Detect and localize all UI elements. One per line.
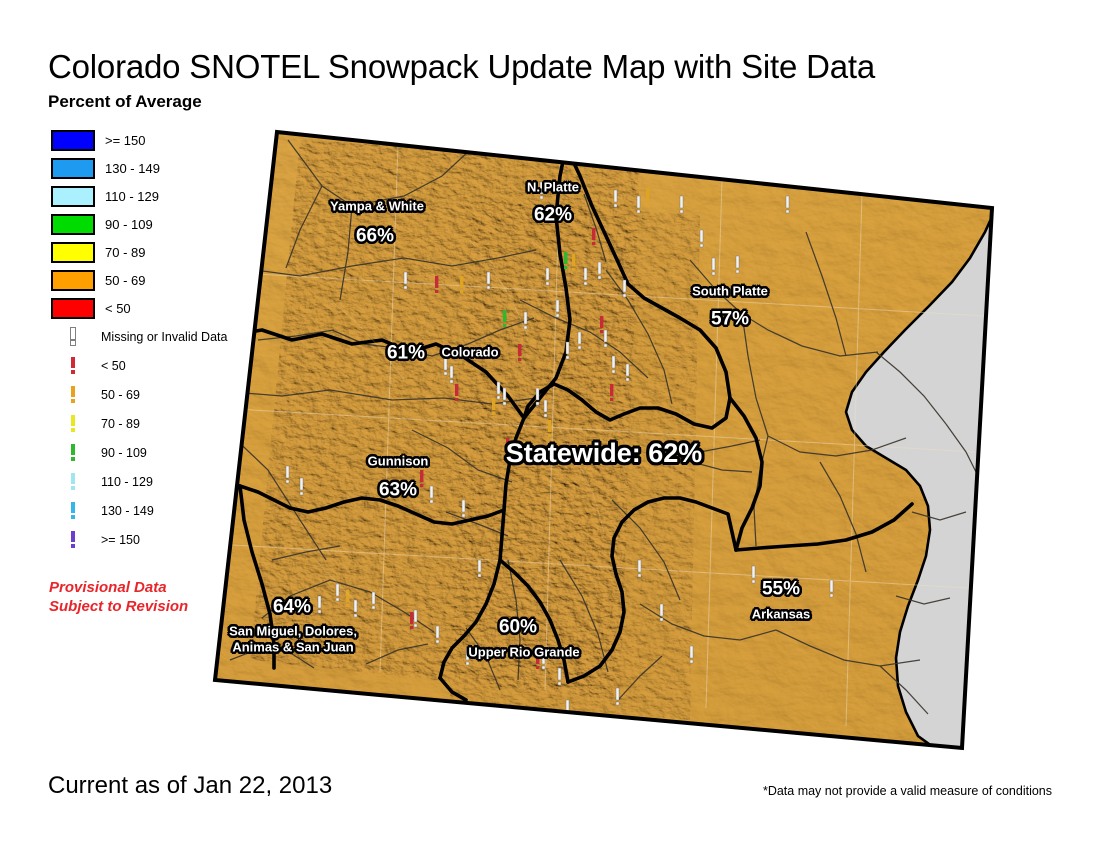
- page-title: Colorado SNOTEL Snowpack Update Map with…: [48, 48, 875, 86]
- legend-swatch-label: 90 - 109: [105, 217, 153, 232]
- legend-swatch: [51, 130, 95, 151]
- exclamation-marker-icon: [51, 385, 95, 405]
- basin-value-north-platte: 62%: [534, 204, 572, 225]
- legend-site-label: 50 - 69: [101, 388, 140, 402]
- legend-item: >= 150: [51, 126, 160, 154]
- legend-site-label: 110 - 129: [101, 475, 153, 489]
- legend-site-item: 110 - 129: [51, 467, 227, 496]
- legend-site-label: < 50: [101, 359, 126, 373]
- legend-site-label: Missing or Invalid Data: [101, 330, 227, 344]
- legend-item: 130 - 149: [51, 154, 160, 182]
- basin-label-gunnison: Gunnison: [368, 455, 429, 470]
- provisional-data-note: Provisional Data Subject to Revision: [49, 578, 188, 616]
- legend-site-item: >= 150: [51, 525, 227, 554]
- neighbor-state-border: [846, 210, 995, 752]
- legend-site-item: 90 - 109: [51, 438, 227, 467]
- legend-item: < 50: [51, 294, 160, 322]
- legend-item: 50 - 69: [51, 266, 160, 294]
- basin-value-colorado: 61%: [387, 342, 425, 363]
- exclamation-marker-icon: [51, 501, 95, 521]
- legend-swatch-label: 110 - 129: [105, 189, 159, 204]
- basin-value-yampa-white: 66%: [356, 225, 394, 246]
- legend-site-label: 90 - 109: [101, 446, 147, 460]
- basin-value-san-juan: 64%: [273, 596, 311, 617]
- basin-label-south-platte: South Platte: [692, 285, 768, 300]
- legend-site-item: Missing or Invalid Data: [51, 322, 227, 351]
- legend-swatch: [51, 242, 95, 263]
- basin-value-south-platte: 57%: [711, 308, 749, 329]
- legend-site-label: >= 150: [101, 533, 140, 547]
- legend-swatch-label: 50 - 69: [105, 273, 145, 288]
- legend-swatch: [51, 298, 95, 319]
- exclamation-marker-icon: [51, 327, 95, 347]
- snotel-map-page: Colorado SNOTEL Snowpack Update Map with…: [0, 0, 1100, 850]
- legend-swatch: [51, 158, 95, 179]
- legend-swatch-label: < 50: [105, 301, 131, 316]
- legend-site-item: < 50: [51, 351, 227, 380]
- legend-heading: Percent of Average: [48, 92, 202, 112]
- legend-swatch: [51, 186, 95, 207]
- basin-label-san-juan-line2: Animas & San Juan: [232, 641, 353, 656]
- legend-site-label: 130 - 149: [101, 504, 154, 518]
- exclamation-marker-icon: [51, 443, 95, 463]
- legend-site-item: 130 - 149: [51, 496, 227, 525]
- basin-label-yampa-white: Yampa & White: [330, 200, 424, 215]
- basin-label-upper-rio-grande: Upper Rio Grande: [468, 646, 579, 661]
- neighbor-state-fill: [846, 200, 1010, 758]
- current-as-of-label: Current as of Jan 22, 2013: [48, 772, 332, 800]
- legend-swatch: [51, 214, 95, 235]
- basin-label-north-platte: N. Platte: [527, 181, 579, 196]
- ridge-highlights: [316, 240, 604, 610]
- basin-value-arkansas: 55%: [762, 578, 800, 599]
- basin-color-legend: >= 150 130 - 149 110 - 129 90 - 109 70 -…: [51, 126, 160, 322]
- basin-label-colorado: Colorado: [441, 346, 498, 361]
- legend-swatch: [51, 270, 95, 291]
- basin-label-arkansas: Arkansas: [752, 608, 811, 623]
- basin-value-upper-rio-grande: 60%: [499, 616, 537, 637]
- legend-item: 90 - 109: [51, 210, 160, 238]
- exclamation-marker-icon: [51, 414, 95, 434]
- legend-site-item: 70 - 89: [51, 409, 227, 438]
- provisional-line-2: Subject to Revision: [49, 597, 188, 616]
- legend-site-label: 70 - 89: [101, 417, 140, 431]
- exclamation-marker-icon: [51, 356, 95, 376]
- basin-label-san-juan-line1: San Miguel, Dolores,: [229, 625, 357, 640]
- legend-swatch-label: 130 - 149: [105, 161, 160, 176]
- site-marker-legend: Missing or Invalid Data < 50 50 - 69 70 …: [51, 322, 227, 554]
- legend-swatch-label: >= 150: [105, 133, 146, 148]
- legend-item: 70 - 89: [51, 238, 160, 266]
- legend-swatch-label: 70 - 89: [105, 245, 145, 260]
- exclamation-marker-icon: [51, 472, 95, 492]
- legend-site-item: 50 - 69: [51, 380, 227, 409]
- provisional-line-1: Provisional Data: [49, 578, 188, 597]
- exclamation-marker-icon: [51, 530, 95, 550]
- legend-item: 110 - 129: [51, 182, 160, 210]
- disclaimer-label: *Data may not provide a valid measure of…: [763, 784, 1052, 798]
- statewide-value-label: Statewide: 62%: [506, 438, 703, 468]
- basin-value-gunnison: 63%: [379, 479, 417, 500]
